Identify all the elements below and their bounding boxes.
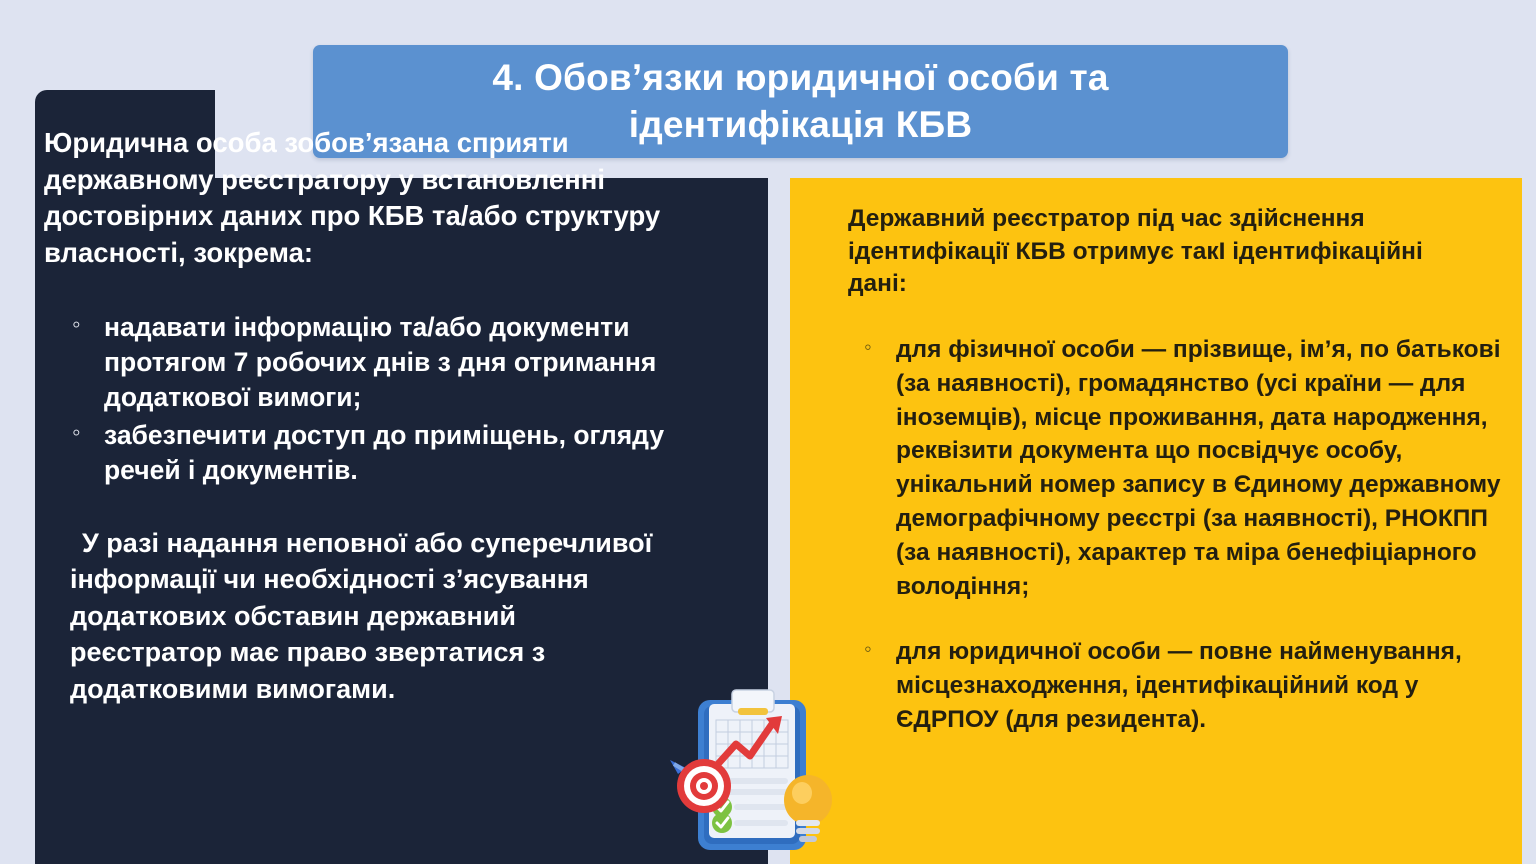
list-item: для юридичної особи — повне найменування… [862,635,1502,736]
left-panel-bullet-list: надавати інформацію та/або документи про… [70,310,715,490]
right-yellow-panel: Державний реєстратор під час здійснення … [790,178,1522,864]
list-item: забезпечити доступ до приміщень, огляду … [70,418,715,488]
right-panel-bullet-list: для фізичної особи — прізвище, ім’я, по … [862,333,1502,769]
right-panel-intro-text: Державний реєстратор під час здійснення … [848,203,1468,301]
left-panel-outro-text: У разі надання неповної або суперечливої… [70,525,670,707]
list-item: для фізичної особи — прізвище, ім’я, по … [862,333,1502,603]
left-panel-intro-text: Юридична особа зобов’язана сприяти держа… [44,125,704,271]
list-item: надавати інформацію та/або документи про… [70,310,715,416]
